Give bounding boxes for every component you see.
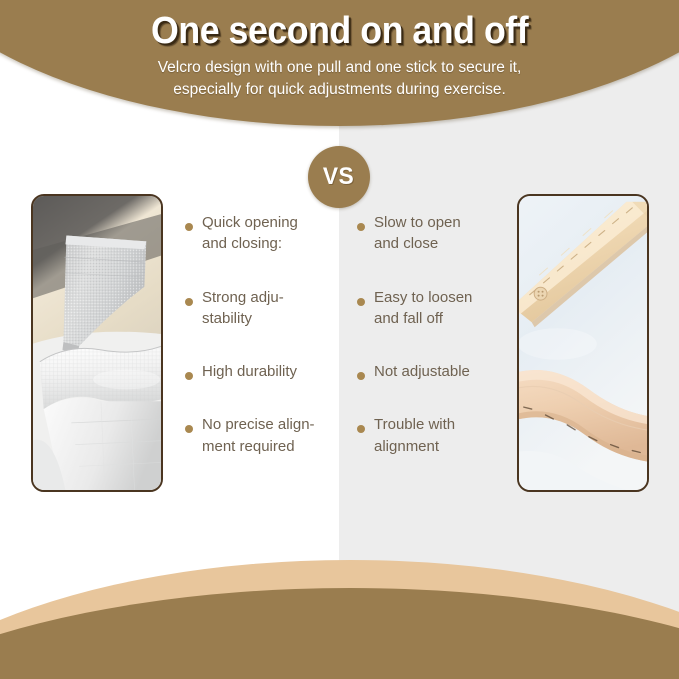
list-item-label: Not adjustable bbox=[374, 361, 470, 382]
product-photo-velcro bbox=[31, 194, 163, 492]
list-item: Not adjustable bbox=[357, 361, 515, 382]
cons-list: Slow to open and close Easy to loosen an… bbox=[357, 212, 515, 457]
list-item-label: Strong adju- stability bbox=[202, 287, 284, 330]
list-item-label: Slow to open and close bbox=[374, 212, 461, 255]
bullet-dot-icon bbox=[185, 223, 193, 231]
header-text-block: One second on and off Velcro design with… bbox=[0, 0, 679, 126]
bullet-dot-icon bbox=[185, 372, 193, 380]
list-item-label: Quick opening and closing: bbox=[202, 212, 298, 255]
list-item: No precise align- ment required bbox=[185, 414, 343, 457]
list-item-label: High durability bbox=[202, 361, 297, 382]
bullet-dot-icon bbox=[357, 223, 365, 231]
vs-badge-label: VS bbox=[323, 163, 354, 191]
list-item-label: Easy to loosen and fall off bbox=[374, 287, 472, 330]
page-title: One second on and off bbox=[151, 12, 528, 52]
bullet-dot-icon bbox=[357, 425, 365, 433]
product-photo-elastic-band bbox=[517, 194, 649, 492]
list-item: Trouble with alignment bbox=[357, 414, 515, 457]
infographic-canvas: One second on and off Velcro design with… bbox=[0, 0, 679, 679]
list-item: Easy to loosen and fall off bbox=[357, 287, 515, 330]
list-item: Quick opening and closing: bbox=[185, 212, 343, 255]
page-subtitle: Velcro design with one pull and one stic… bbox=[158, 57, 522, 101]
bullet-dot-icon bbox=[357, 372, 365, 380]
elastic-band-illustration bbox=[519, 196, 647, 490]
list-item: Slow to open and close bbox=[357, 212, 515, 255]
page-subtitle-line-1: Velcro design with one pull and one stic… bbox=[158, 57, 522, 79]
list-item: High durability bbox=[185, 361, 343, 382]
list-item: Strong adju- stability bbox=[185, 287, 343, 330]
bullet-dot-icon bbox=[185, 298, 193, 306]
pros-list: Quick opening and closing: Strong adju- … bbox=[185, 212, 343, 457]
bullet-dot-icon bbox=[357, 298, 365, 306]
page-subtitle-line-2: especially for quick adjustments during … bbox=[158, 79, 522, 101]
list-item-label: Trouble with alignment bbox=[374, 414, 455, 457]
bullet-dot-icon bbox=[185, 425, 193, 433]
velcro-strap-illustration bbox=[33, 196, 161, 490]
vs-badge: VS bbox=[308, 146, 370, 208]
list-item-label: No precise align- ment required bbox=[202, 414, 315, 457]
